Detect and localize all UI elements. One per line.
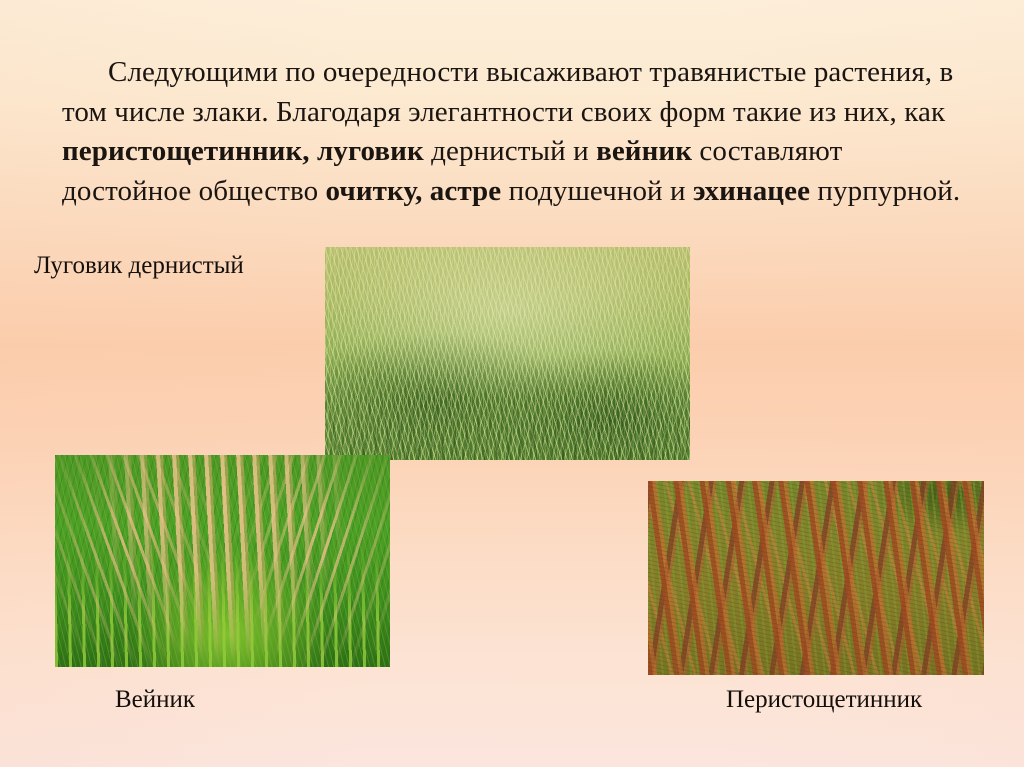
photo-layer-warm-tone	[648, 481, 984, 675]
body-text-bold-1: перистощетинник, луговик	[62, 135, 424, 167]
caption-lugovik-dernistyy: Луговик дернистый	[34, 252, 244, 280]
photo-layer-plumes	[55, 455, 390, 667]
caption-veinik: Вейник	[115, 686, 195, 714]
body-text-bold-4: эхинацее	[693, 175, 810, 207]
body-text-run-2: дернистый и	[424, 135, 596, 167]
body-text-run-1: Следующими по очередности высаживают тра…	[62, 56, 953, 128]
body-paragraph: Следующими по очередности высаживают тра…	[62, 53, 962, 211]
body-text-bold-2: вейник	[596, 135, 692, 167]
caption-peristoshchetinnik: Перистощетинник	[726, 686, 922, 714]
body-text-run-5: пурпурной.	[810, 175, 960, 207]
body-text-bold-3: очитку, астре	[326, 175, 502, 207]
photo-peristoshchetinnik	[648, 481, 984, 675]
photo-layer-blades-2	[325, 247, 690, 460]
photo-lugovik-dernistyy	[325, 247, 690, 460]
photo-veinik	[55, 455, 390, 667]
slide-canvas: Следующими по очередности высаживают тра…	[0, 0, 1024, 767]
body-text-run-4: подушечной и	[501, 175, 693, 207]
